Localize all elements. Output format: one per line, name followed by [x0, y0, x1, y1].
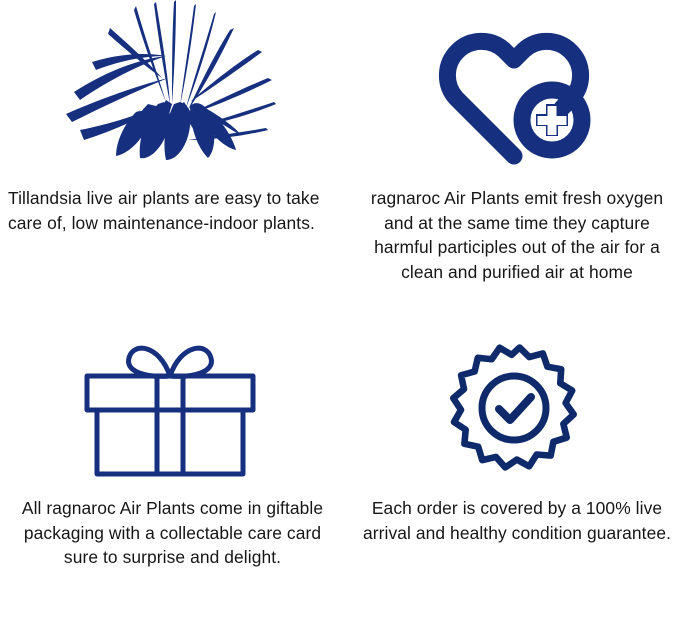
verified-badge-icon [349, 310, 679, 478]
air-plant-icon [0, 0, 339, 172]
gift-box-icon [0, 310, 339, 478]
feature-card-giftable-packaging: All ragnaroc Air Plants come in giftable… [0, 310, 349, 617]
feature-card-air-plant-care: Tillandsia live air plants are easy to t… [0, 0, 349, 310]
feature-text-air-purification: ragnaroc Air Plants emit fresh oxygen an… [349, 172, 679, 284]
feature-text-giftable-packaging: All ragnaroc Air Plants come in giftable… [0, 478, 339, 570]
feature-card-air-purification: ragnaroc Air Plants emit fresh oxygen an… [349, 0, 679, 310]
feature-grid: Tillandsia live air plants are easy to t… [0, 0, 679, 617]
heart-plus-icon [349, 0, 679, 172]
feature-text-air-plant-care: Tillandsia live air plants are easy to t… [0, 172, 339, 235]
feature-card-live-arrival-guarantee: Each order is covered by a 100% live arr… [349, 310, 679, 617]
feature-text-live-arrival-guarantee: Each order is covered by a 100% live arr… [349, 478, 679, 545]
